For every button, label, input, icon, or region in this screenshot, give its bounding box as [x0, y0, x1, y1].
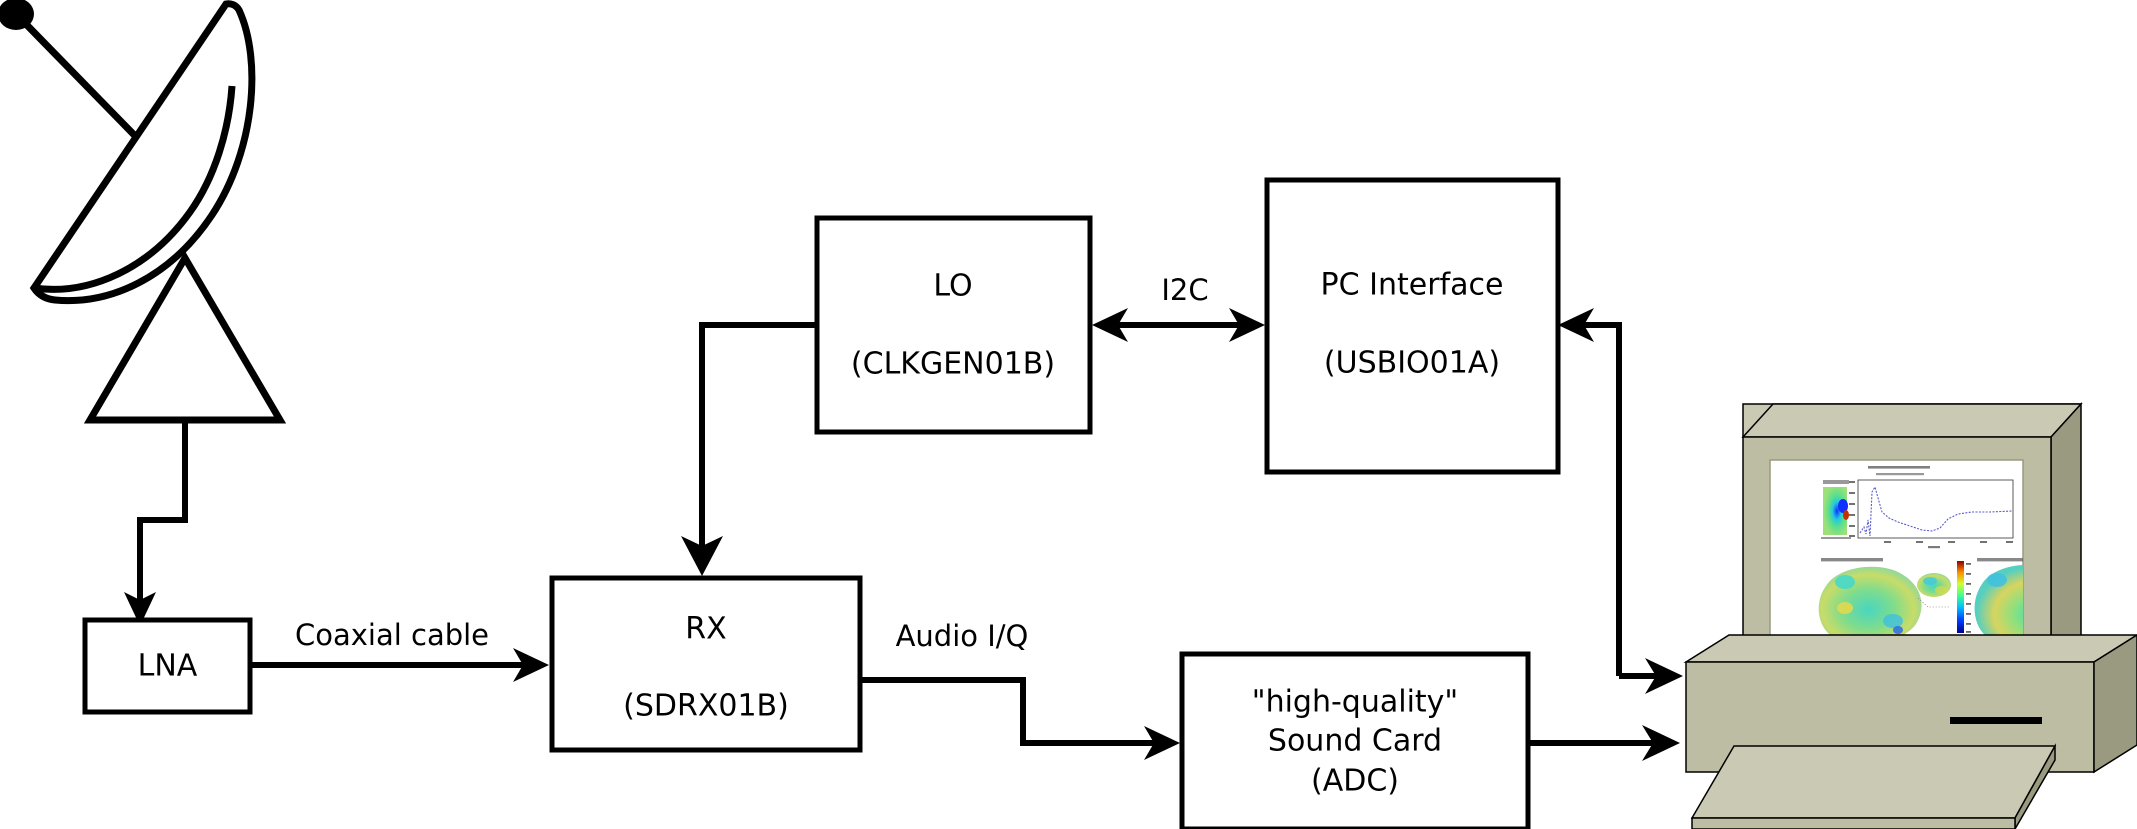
desktop-computer: [1686, 404, 2137, 829]
lo-block-part-number: (CLKGEN01B): [851, 347, 1055, 382]
computer-keyboard-front: [1692, 818, 2015, 829]
lna-block-label: LNA: [138, 649, 198, 684]
i2c-label: I2C: [1161, 273, 1208, 307]
rx-block-rect[interactable]: [552, 578, 860, 750]
sound-card-block-label-quality: "high-quality": [1252, 685, 1458, 720]
edge-lna-to-rx: [250, 648, 549, 682]
computer-keyboard: [1692, 746, 2055, 818]
computer-drive-slot: [1950, 717, 2042, 724]
monitor-top-bevel: [1743, 404, 2081, 437]
rx-block-label: RX: [685, 612, 726, 647]
lo-feed-wire: [702, 325, 817, 552]
coaxial-cable-label: Coaxial cable: [295, 618, 489, 652]
sound-card-block-label-adc: (ADC): [1311, 764, 1399, 799]
pc-interface-block-part-number: (USBIO01A): [1324, 346, 1500, 381]
rx-block[interactable]: RX (SDRX01B): [552, 578, 860, 750]
sound-card-block[interactable]: "high-quality" Sound Card (ADC): [1182, 654, 1528, 829]
edge-lo-to-rx: [681, 325, 817, 576]
lna-block[interactable]: LNA: [85, 620, 250, 712]
audio-iq-wire: [860, 680, 1157, 743]
lo-block-rect[interactable]: [817, 218, 1090, 432]
edge-sound-card-to-computer: [1528, 725, 1680, 761]
pc-interface-block-label: PC Interface: [1321, 268, 1504, 303]
sound-card-block-label-name: Sound Card: [1268, 724, 1442, 759]
pc-interface-block[interactable]: PC Interface (USBIO01A): [1267, 180, 1558, 472]
computer-case-top: [1686, 635, 2137, 662]
dish-to-lna-wire: [140, 420, 185, 608]
satellite-dish: [0, 0, 280, 626]
lo-block-label: LO: [933, 269, 972, 304]
monitor-right-face: [2051, 404, 2081, 670]
rx-block-part-number: (SDRX01B): [623, 689, 789, 724]
pc-interface-block-rect[interactable]: [1267, 180, 1558, 472]
edge-rx-to-sound-card: [860, 680, 1180, 760]
usb-return-wire: [1580, 325, 1619, 676]
lo-block[interactable]: LO (CLKGEN01B): [817, 218, 1090, 432]
edge-computer-to-pc-interface: [1558, 308, 1683, 694]
audio-iq-label: Audio I/Q: [896, 619, 1029, 653]
block-diagram-canvas: LNA RX (SDRX01B) LO (CLKGEN01B) PC Inter…: [0, 0, 2137, 829]
edge-lo-to-pc-interface: [1092, 308, 1265, 342]
